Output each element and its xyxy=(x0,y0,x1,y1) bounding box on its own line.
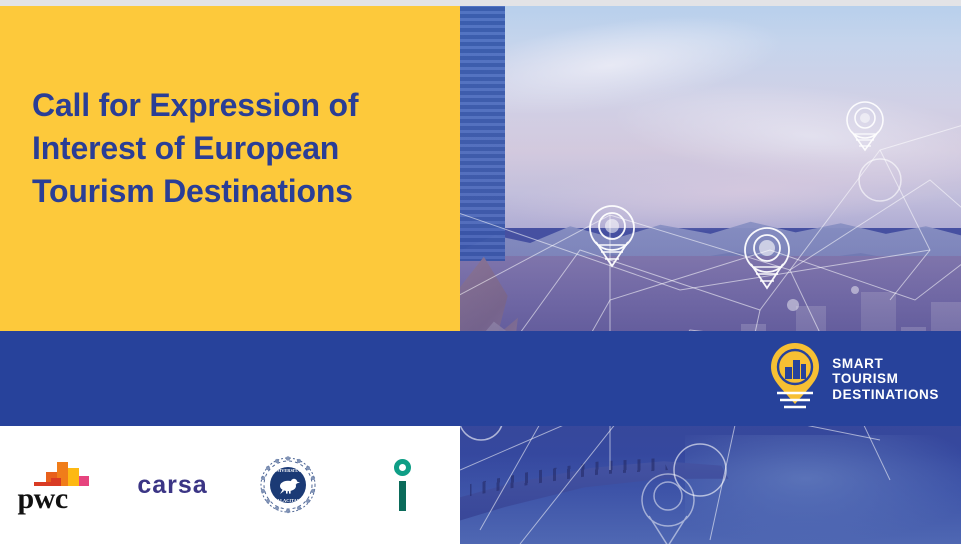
logo-line-3: DESTINATIONS xyxy=(832,387,939,403)
partner-logo-pwc: pwc xyxy=(0,426,115,544)
partner-logo-teal-mark xyxy=(345,426,460,544)
partner-logo-carsa: carsa xyxy=(115,426,230,544)
partner-logo-universitas-malacitana: UNIVERSITAS MALACITANA xyxy=(230,426,345,544)
smart-tourism-destinations-wordmark: SMART TOURISM DESTINATIONS xyxy=(832,356,939,403)
teal-ring-and-bar-icon xyxy=(390,459,416,511)
slide-root: Call for Expression of Interest of Europ… xyxy=(0,0,961,544)
map-pin-marker xyxy=(847,102,883,150)
page-title: Call for Expression of Interest of Europ… xyxy=(32,84,422,213)
map-pin-lightbulb-icon xyxy=(769,341,821,417)
svg-text:MALACITANA: MALACITANA xyxy=(272,498,303,503)
top-edge-strip xyxy=(0,0,961,6)
carsa-wordmark: carsa xyxy=(137,471,207,500)
smart-city-network-overlay xyxy=(460,0,961,544)
page-title-line-1: Call for Expression of xyxy=(32,84,422,127)
bilbao-cityscape-photo xyxy=(460,0,961,544)
smart-tourism-destinations-logo: SMART TOURISM DESTINATIONS xyxy=(769,339,939,419)
yellow-title-panel: Call for Expression of Interest of Europ… xyxy=(0,0,460,331)
map-pin-marker xyxy=(590,206,634,266)
svg-text:UNIVERSITAS: UNIVERSITAS xyxy=(273,468,303,473)
logo-line-2: TOURISM xyxy=(832,371,939,387)
pwc-wordmark: pwc xyxy=(18,482,68,516)
page-title-line-2: Interest of European xyxy=(32,127,422,170)
teal-bar xyxy=(399,481,406,511)
university-of-malaga-seal-icon: UNIVERSITAS MALACITANA xyxy=(259,456,317,514)
map-pin-marker xyxy=(642,474,694,544)
partner-logo-bar: pwc carsa xyxy=(0,426,460,544)
page-title-line-3: Tourism Destinations xyxy=(32,170,422,213)
teal-ring xyxy=(394,459,411,476)
logo-line-1: SMART xyxy=(832,356,939,372)
